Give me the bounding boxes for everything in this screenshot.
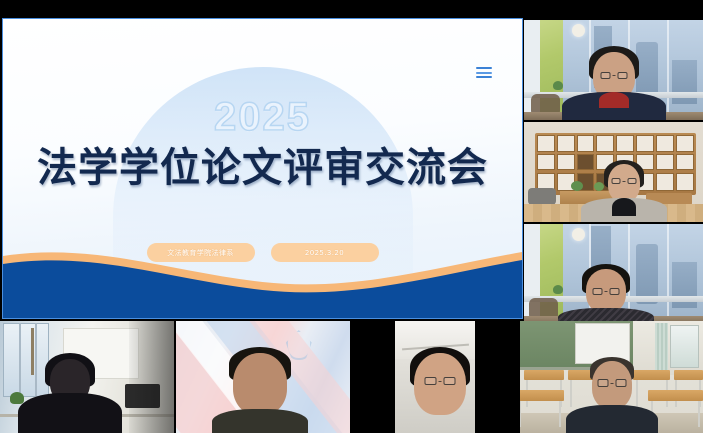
plant-right — [594, 182, 604, 191]
top-black-bar — [0, 0, 703, 18]
menu-line-1 — [476, 67, 492, 69]
participant-tile-3[interactable] — [524, 224, 703, 324]
gallery-bottom-row — [0, 321, 703, 433]
plant-left — [571, 181, 583, 191]
chair — [531, 94, 560, 114]
participant-tile-4[interactable] — [0, 321, 174, 433]
video-background-portrait-pillarbox — [352, 321, 518, 433]
shared-screen-slide[interactable]: 2025 法学学位论文评审交流会 文法教育学院法律系 2025.3.20 — [2, 18, 523, 319]
curtain — [655, 323, 668, 370]
video-conference-window: 2025 法学学位论文评审交流会 文法教育学院法律系 2025.3.20 — [0, 0, 703, 433]
participant-tile-5[interactable] — [176, 321, 350, 433]
participant-tile-1[interactable] — [524, 20, 703, 120]
window — [3, 323, 48, 397]
wave-footer-decoration — [3, 238, 522, 318]
plant — [553, 81, 563, 90]
classroom-window — [670, 325, 699, 368]
menu-line-2 — [476, 72, 492, 74]
menu-line-3 — [476, 76, 492, 78]
presentation-slide: 2025 法学学位论文评审交流会 文法教育学院法律系 2025.3.20 — [3, 19, 522, 318]
hamburger-menu-icon[interactable] — [476, 67, 492, 78]
plant — [553, 285, 563, 294]
portrait-video-area — [395, 321, 475, 433]
shadow-overlay — [129, 321, 174, 433]
chair — [529, 298, 558, 318]
page-title: 法学学位论文评审交流会 — [3, 146, 522, 190]
sofa — [528, 188, 557, 205]
slide-year: 2025 — [3, 97, 522, 137]
participant-tile-2[interactable] — [524, 122, 703, 222]
stand-pole — [31, 328, 34, 375]
participant-tile-6[interactable] — [352, 321, 518, 433]
meeting-stage: 2025 法学学位论文评审交流会 文法教育学院法律系 2025.3.20 — [0, 18, 703, 321]
participant-tile-7[interactable] — [520, 321, 703, 433]
